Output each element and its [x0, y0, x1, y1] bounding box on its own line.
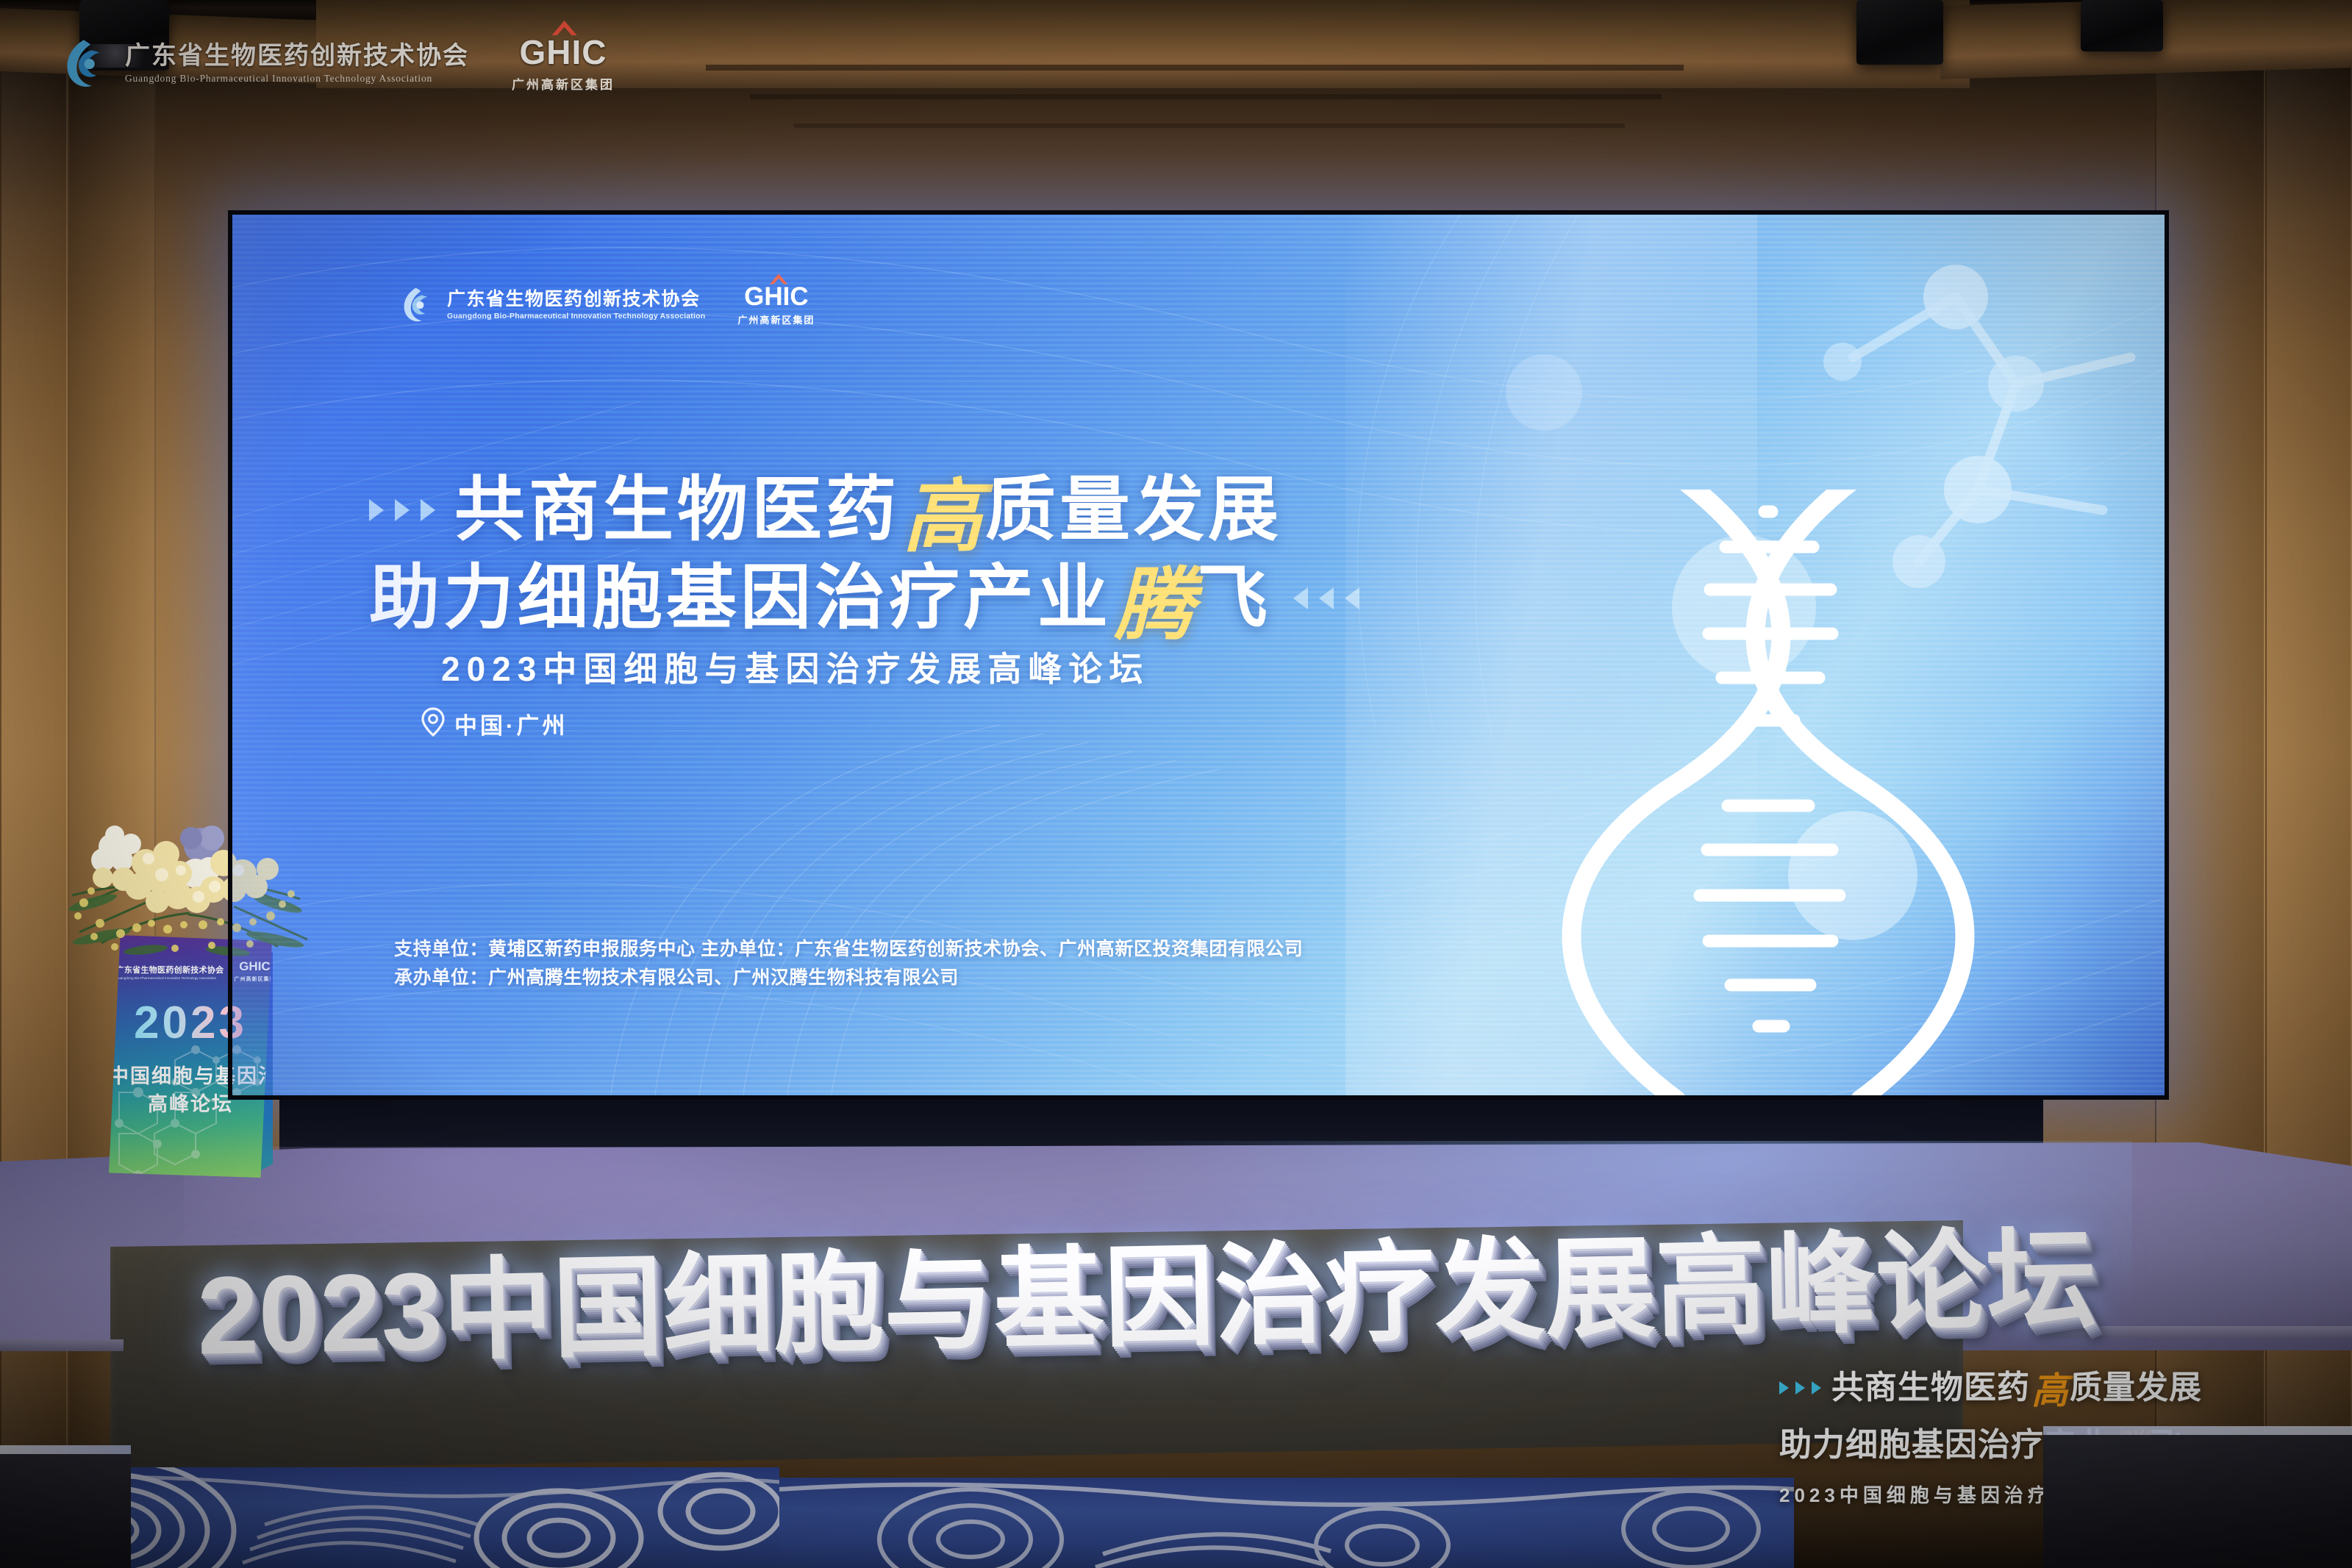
led-logo-row: 广东省生物医药创新技术协会 Guangdong Bio-Pharmaceutic…	[397, 284, 815, 326]
panel2-arrow-group	[1779, 1381, 1821, 1395]
arrow-right-icon	[369, 499, 384, 521]
arrow-left-icon	[1345, 587, 1359, 609]
stage-edge-light-right	[2043, 1426, 2352, 1435]
stage-step-lip-left	[0, 1339, 124, 1351]
stage-side-block-right	[2043, 1435, 2352, 1568]
arrow-left-icon	[1319, 587, 1334, 609]
flower-arrangement-icon	[57, 792, 315, 969]
headline-2-part-b: 飞	[1197, 563, 1271, 634]
led-association-block: 广东省生物医药创新技术协会 Guangdong Bio-Pharmaceutic…	[447, 290, 705, 321]
arrow-group	[369, 499, 435, 521]
dna-helix-icon	[1544, 490, 2000, 1100]
led-ghic-name-cn: 广州高新区集团	[737, 312, 815, 326]
arrow-right-icon	[1779, 1381, 1789, 1395]
led-association-name-cn: 广东省生物医药创新技术协会	[447, 290, 705, 309]
headline-1-part-a: 共商生物医药	[454, 475, 900, 545]
main-led-screen: 广东省生物医药创新技术协会 Guangdong Bio-Pharmaceutic…	[228, 210, 2169, 1100]
credit-line: 支持单位：黄埔区新药申报服务中心 主办单位：广东省生物医药创新技术协会、广州高新…	[394, 935, 1303, 964]
podium-association-en: Guangdong Bio-Pharmaceutical Innovation …	[116, 976, 224, 980]
stage-edge-light-left	[0, 1445, 131, 1454]
association-name-en: Guangdong Bio-Pharmaceutical Innovation …	[125, 73, 469, 85]
arrow-right-icon	[421, 499, 435, 521]
arrow-right-icon	[1795, 1381, 1805, 1395]
led-association-name-en: Guangdong Bio-Pharmaceutical Innovation …	[447, 312, 705, 321]
podium-year: 2023	[109, 997, 272, 1049]
ghic-logo: GHIC 广州高新区集团	[512, 35, 615, 93]
podium-front-panel: 广东省生物医药创新技术协会 Guangdong Bio-Pharmaceutic…	[109, 935, 272, 1178]
caret-up-icon	[768, 273, 790, 289]
led-subtitle: 2023中国细胞与基因治疗发展高峰论坛	[441, 642, 1149, 691]
spotlight-icon-3	[2081, 0, 2163, 51]
ghic-name-cn: 广州高新区集团	[512, 74, 615, 93]
headline-2-accent: 腾	[1112, 541, 1197, 656]
credit-line: 承办单位：广州高腾生物技术有限公司、广州汉腾生物科技有限公司	[394, 964, 1303, 992]
venue-logo-text: 广东省生物医药创新技术协会 Guangdong Bio-Pharmaceutic…	[125, 43, 469, 85]
panel2-line1-b: 质量发展	[2070, 1368, 2202, 1408]
led-credits: 支持单位：黄埔区新药申报服务中心 主办单位：广东省生物医药创新技术协会、广州高新…	[394, 935, 1303, 992]
ceiling-recess-strip	[706, 65, 1684, 71]
venue-top-logo-bar: 广东省生物医药创新技术协会 Guangdong Bio-Pharmaceutic…	[57, 35, 615, 93]
podium-title-line-2: 高峰论坛	[109, 1088, 272, 1117]
podium-ghic-cn: 广州高新区集团	[234, 975, 272, 983]
arrow-right-icon	[1812, 1381, 1821, 1395]
spotlight-icon-2	[1856, 0, 1943, 65]
panel2-line1-a: 共商生物医药	[1831, 1368, 2030, 1408]
association-name-cn: 广东省生物医药创新技术协会	[125, 42, 469, 70]
carpet-pattern-right	[779, 1478, 1794, 1568]
headline-1-part-b: 质量发展	[985, 475, 1282, 545]
panel2-line1-accent: 高	[2030, 1361, 2070, 1414]
led-ghic-logo: GHIC 广州高新区集团	[737, 284, 815, 326]
swirl-logo-icon	[57, 35, 115, 93]
stage-side-block-left	[0, 1454, 131, 1568]
location-text: 中国·广州	[454, 707, 568, 740]
headline-line-2: 助力细胞基因治疗产业 腾 飞	[369, 541, 1359, 656]
ceiling-recess-strip-2	[750, 94, 1662, 99]
headline-2-part-a: 助力细胞基因治疗产业	[369, 563, 1112, 634]
podium-title-line-1: 中国细胞与基因治疗发展	[109, 1060, 272, 1089]
ceiling-recess-strip-3	[794, 123, 1625, 128]
led-location: 中国·广州	[421, 707, 568, 740]
arrow-right-icon	[395, 499, 410, 521]
conference-stage-scene: 广东省生物医药创新技术协会 Guangdong Bio-Pharmaceutic…	[0, 0, 2352, 1568]
location-pin-icon	[421, 707, 446, 740]
panel2-line-1: 共商生物医药 高 质量发展	[1779, 1361, 2237, 1414]
event-podium: 广东省生物医药创新技术协会 Guangdong Bio-Pharmaceutic…	[109, 935, 272, 1178]
arrow-group-left	[1293, 587, 1359, 609]
caret-up-icon	[550, 19, 579, 40]
arrow-left-icon	[1293, 587, 1308, 609]
swirl-logo-icon	[397, 284, 438, 326]
